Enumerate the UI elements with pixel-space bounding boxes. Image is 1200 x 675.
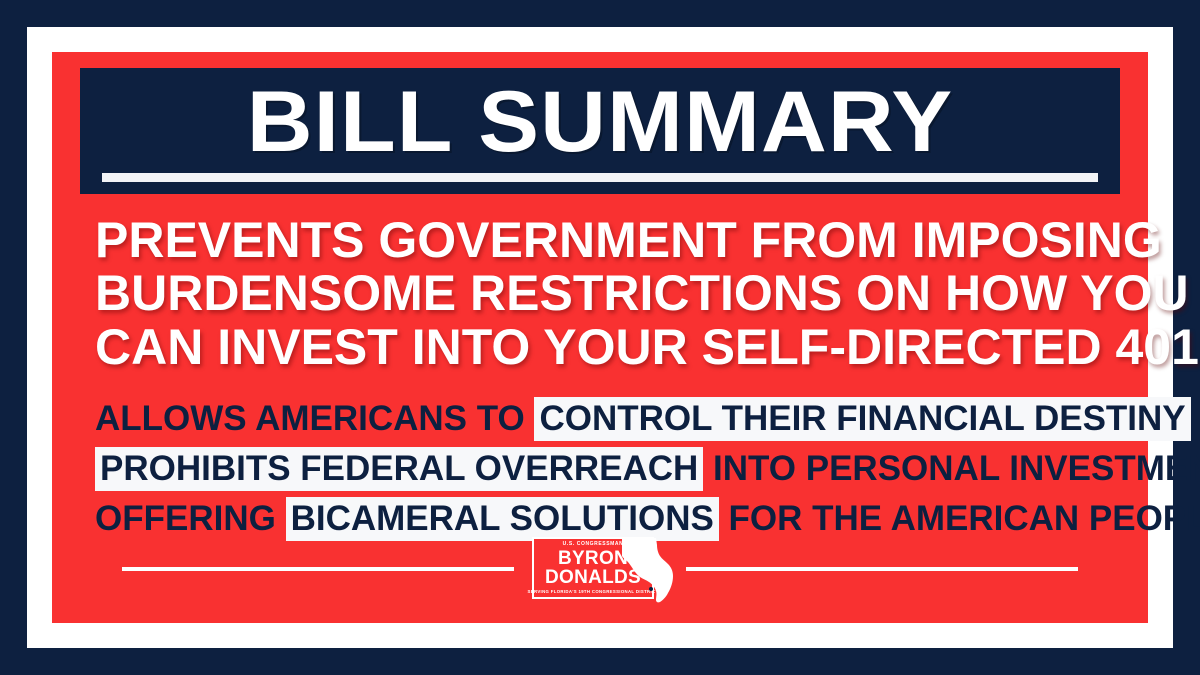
bullet-2-post: INTO PERSONAL INVESTMENTS: [703, 449, 1200, 488]
headline-line-3: CAN INVEST INTO YOUR SELF-DIRECTED 401K: [95, 321, 1105, 375]
florida-state-icon: [616, 533, 678, 605]
headline-line-1: PREVENTS GOVERNMENT FROM IMPOSING: [95, 214, 1105, 268]
title-banner: BILL SUMMARY: [80, 68, 1120, 194]
page-title: BILL SUMMARY: [72, 82, 1128, 164]
white-frame-border: BILL SUMMARY PREVENTS GOVERNMENT FROM IM…: [27, 27, 1173, 648]
bullet-line-1: ALLOWS AMERICANS TO CONTROL THEIR FINANC…: [95, 394, 1105, 444]
title-underline-rule: [102, 173, 1098, 182]
bullet-list: ALLOWS AMERICANS TO CONTROL THEIR FINANC…: [95, 394, 1105, 543]
footer-row: U.S. CONGRESSMAN BYRON DONALDS SERVING F…: [52, 533, 1148, 605]
divider-rule-right: [686, 567, 1078, 571]
bullet-3-pre: OFFERING: [95, 499, 286, 538]
logo-eyebrow-text: U.S. CONGRESSMAN: [563, 542, 624, 547]
bullet-1-pre: ALLOWS AMERICANS TO: [95, 399, 534, 438]
byron-donalds-logo: U.S. CONGRESSMAN BYRON DONALDS SERVING F…: [520, 533, 680, 605]
headline-block: PREVENTS GOVERNMENT FROM IMPOSING BURDEN…: [95, 214, 1105, 375]
bullet-1-highlight: CONTROL THEIR FINANCIAL DESTINY: [534, 397, 1190, 441]
headline-line-2: BURDENSOME RESTRICTIONS ON HOW YOU: [95, 267, 1105, 321]
divider-rule-left: [122, 567, 514, 571]
bill-summary-graphic: BILL SUMMARY PREVENTS GOVERNMENT FROM IM…: [0, 0, 1200, 675]
red-content-panel: BILL SUMMARY PREVENTS GOVERNMENT FROM IM…: [52, 52, 1148, 623]
bullet-3-post: FOR THE AMERICAN PEOPLE: [719, 499, 1200, 538]
bullet-line-2: PROHIBITS FEDERAL OVERREACH INTO PERSONA…: [95, 444, 1105, 494]
bullet-2-highlight: PROHIBITS FEDERAL OVERREACH: [95, 447, 703, 491]
